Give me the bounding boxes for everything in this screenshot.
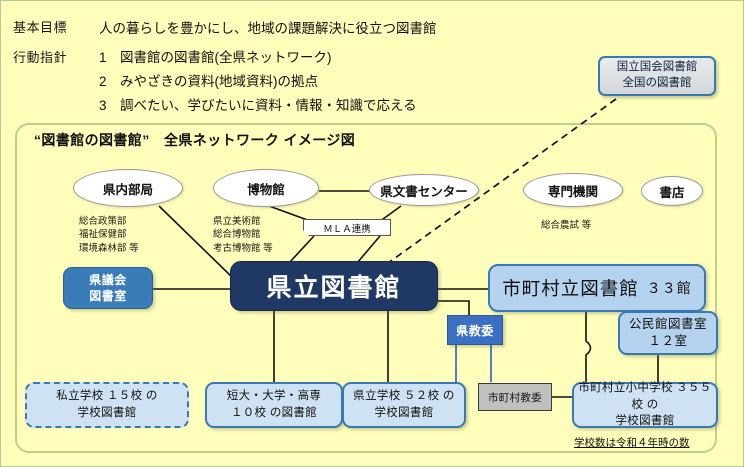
muni-school-line-1: 市町村立小中学校 ３５５校 の [574, 380, 716, 413]
assembly-library-box[interactable]: 県議会 図書室 [63, 267, 153, 309]
action-policy-item-3: 3 調べたい、学びたいに資料・情報・知識で応える [99, 94, 417, 114]
muni-school-line-2: 学校図書館 [616, 413, 675, 430]
action-policy-label: 行動指針 [13, 47, 67, 66]
footnote-school-count: 学校数は令和４年時の数 [574, 435, 690, 450]
kominkan-line-2: １２室 [648, 333, 687, 351]
ellipse-hakubutsukan[interactable]: 博物館 [213, 169, 319, 207]
national-diet-library-box[interactable]: 国立国会図書館 全国の図書館 [598, 56, 716, 96]
college-line-2: １０校 の図書館 [231, 405, 317, 422]
college-line-1: 短大・大学・高専 [227, 388, 321, 405]
ellipse-kennai-bukyoku[interactable]: 県内部局 [73, 169, 183, 207]
ellipse-shoten[interactable]: 書店 [641, 176, 703, 206]
ndl-line-2: 全国の図書館 [623, 76, 692, 92]
action-policy-item-1: 1 図書館の図書館(全県ネットワーク) [99, 46, 332, 66]
private-school-line-1: 私立学校 １５校 の [56, 388, 157, 405]
prefectural-school-library-box[interactable]: 県立学校 ５２校 の 学校図書館 [342, 382, 466, 428]
prefectural-board-of-education-box[interactable]: 県教委 [447, 315, 503, 345]
assembly-library-line-1: 県議会 [89, 272, 127, 288]
panel-title: “図書館の図書館” 全県ネットワーク イメージ図 [34, 130, 355, 150]
ellipse-kenbunsho-center[interactable]: 県文書センター [369, 174, 479, 206]
private-school-library-box[interactable]: 私立学校 １５校 の 学校図書館 [25, 382, 189, 428]
ellipse-senmon-kikan-sub: 総合農試 等 [541, 219, 591, 232]
pref-school-line-2: 学校図書館 [375, 405, 434, 422]
basic-goal-text: 人の暮らしを豊かにし、地域の課題解決に役立つ図書館 [99, 17, 437, 37]
ellipse-hakubutsukan-sub: 県立美術館総合博物館考古博物館 等 [213, 215, 273, 255]
action-policy-item-2: 2 みやざきの資料(地域資料)の拠点 [99, 70, 318, 90]
pref-school-line-1: 県立学校 ５２校 の [353, 388, 454, 405]
private-school-line-2: 学校図書館 [78, 405, 137, 422]
kominkan-line-1: 公民館図書室 [629, 316, 707, 334]
municipal-library-name: 市町村立図書館 [502, 275, 639, 301]
diagram-page: 基本目標 人の暮らしを豊かにし、地域の課題解決に役立つ図書館 行動指針 1 図書… [0, 0, 744, 467]
mla-cooperation-banner: ＭＬＡ連携 [303, 219, 391, 236]
ellipse-senmon-kikan[interactable]: 専門機関 [523, 173, 623, 207]
assembly-library-line-2: 図書室 [89, 288, 127, 304]
basic-goal-label: 基本目標 [13, 17, 67, 36]
municipal-board-of-education-box[interactable]: 市町村教委 [478, 383, 552, 411]
college-library-box[interactable]: 短大・大学・高専 １０校 の図書館 [205, 382, 343, 428]
municipal-library-box[interactable]: 市町村立図書館 ３３館 [488, 264, 706, 312]
ellipse-kennai-bukyoku-sub: 総合政策部福祉保健部環境森林部 等 [79, 215, 139, 255]
kominkan-library-box[interactable]: 公民館図書室 １２室 [618, 311, 718, 355]
municipal-library-count: ３３館 [647, 278, 692, 298]
municipal-school-library-box[interactable]: 市町村立小中学校 ３５５校 の 学校図書館 [572, 382, 718, 428]
ndl-line-1: 国立国会図書館 [617, 60, 698, 76]
prefectural-library-box[interactable]: 県立図書館 [230, 261, 438, 311]
